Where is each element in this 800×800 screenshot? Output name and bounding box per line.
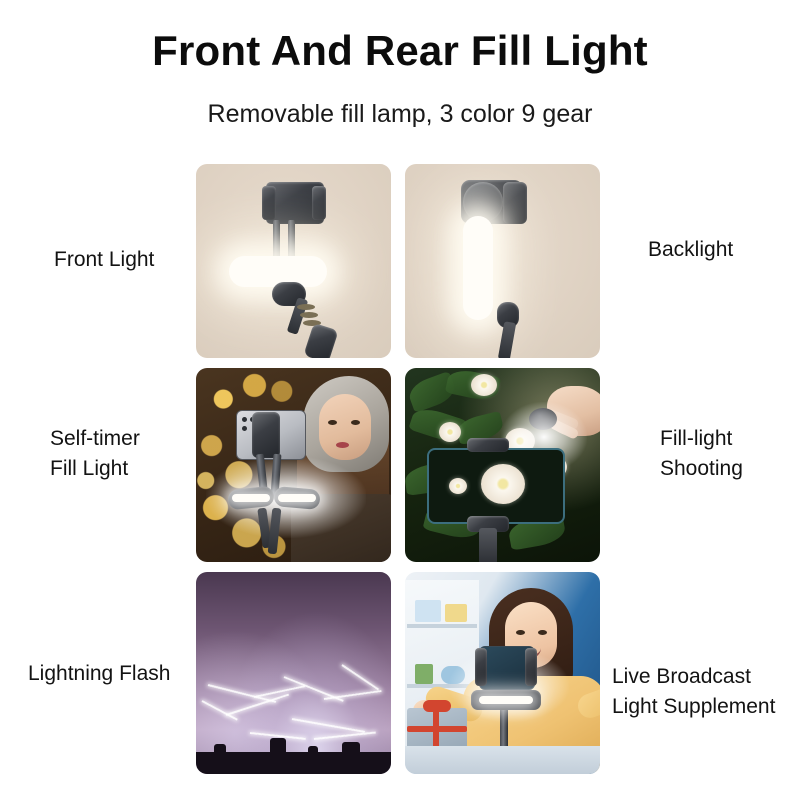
camera-lens-icon	[242, 426, 247, 431]
label-line: Lightning Flash	[28, 659, 170, 689]
white-flower-on-screen	[449, 478, 467, 494]
label-line: Fill-light	[660, 424, 743, 454]
ribbon	[407, 726, 467, 732]
grip-ring	[300, 312, 318, 318]
label-front-light: Front Light	[54, 245, 154, 275]
label-line: Fill Light	[50, 454, 140, 484]
phone-clamp-icon	[525, 648, 537, 686]
storm-sky-background	[196, 572, 391, 774]
eye	[538, 630, 547, 635]
eye	[516, 630, 525, 635]
desk-surface	[405, 746, 600, 774]
fill-light-bar	[463, 216, 493, 320]
page-title: Front And Rear Fill Light	[0, 28, 800, 74]
label-line: Self-timer	[50, 424, 140, 454]
page-subtitle: Removable fill lamp, 3 color 9 gear	[0, 100, 800, 129]
label-live-broadcast-light-supplement: Live Broadcast Light Supplement	[612, 662, 775, 722]
clamp-jaw-icon	[262, 186, 276, 220]
label-self-timer-fill-light: Self-timer Fill Light	[50, 424, 140, 484]
shelf-box	[415, 600, 441, 622]
clamp-jaw-icon	[312, 186, 326, 220]
backlight-product-photo	[405, 164, 600, 358]
front-light-product-photo	[196, 164, 391, 358]
face	[319, 394, 371, 460]
label-line: Backlight	[648, 235, 733, 265]
clamp-side-block	[503, 182, 527, 224]
phone-clamp-icon	[252, 412, 280, 458]
grid-row	[196, 368, 600, 564]
label-backlight: Backlight	[648, 235, 733, 265]
camera-lens-icon	[242, 417, 247, 422]
grip-ring	[297, 304, 315, 310]
fill-light-emitter	[479, 696, 533, 704]
ribbon-bow	[423, 700, 451, 712]
live-broadcast-light-supplement-photo	[405, 572, 600, 774]
lips	[336, 442, 349, 448]
label-line: Live Broadcast	[612, 662, 775, 692]
label-lightning-flash: Lightning Flash	[28, 659, 170, 689]
dark-horizon	[196, 752, 391, 774]
label-line: Shooting	[660, 454, 743, 484]
label-line: Light Supplement	[612, 692, 775, 722]
label-fill-light-shooting: Fill-light Shooting	[660, 424, 743, 484]
fill-light-emitter	[232, 494, 270, 502]
self-timer-fill-light-photo	[196, 368, 391, 562]
white-flower-on-screen	[481, 464, 525, 504]
eye	[351, 420, 360, 425]
grid-row	[196, 164, 600, 360]
phone-clamp-icon	[475, 648, 487, 686]
label-line: Front Light	[54, 245, 154, 275]
phone-clamp-icon	[467, 438, 509, 452]
white-flower	[471, 374, 497, 396]
product-image-grid	[196, 164, 600, 776]
eye	[328, 420, 337, 425]
fill-light-shooting-photo	[405, 368, 600, 562]
phone-body	[427, 448, 565, 524]
fill-light-emitter	[278, 494, 316, 502]
shelf-plant	[415, 664, 433, 684]
white-flower	[439, 422, 461, 442]
tripod-pole	[479, 528, 497, 562]
grid-row	[196, 572, 600, 768]
lightning-flash-photo	[196, 572, 391, 774]
